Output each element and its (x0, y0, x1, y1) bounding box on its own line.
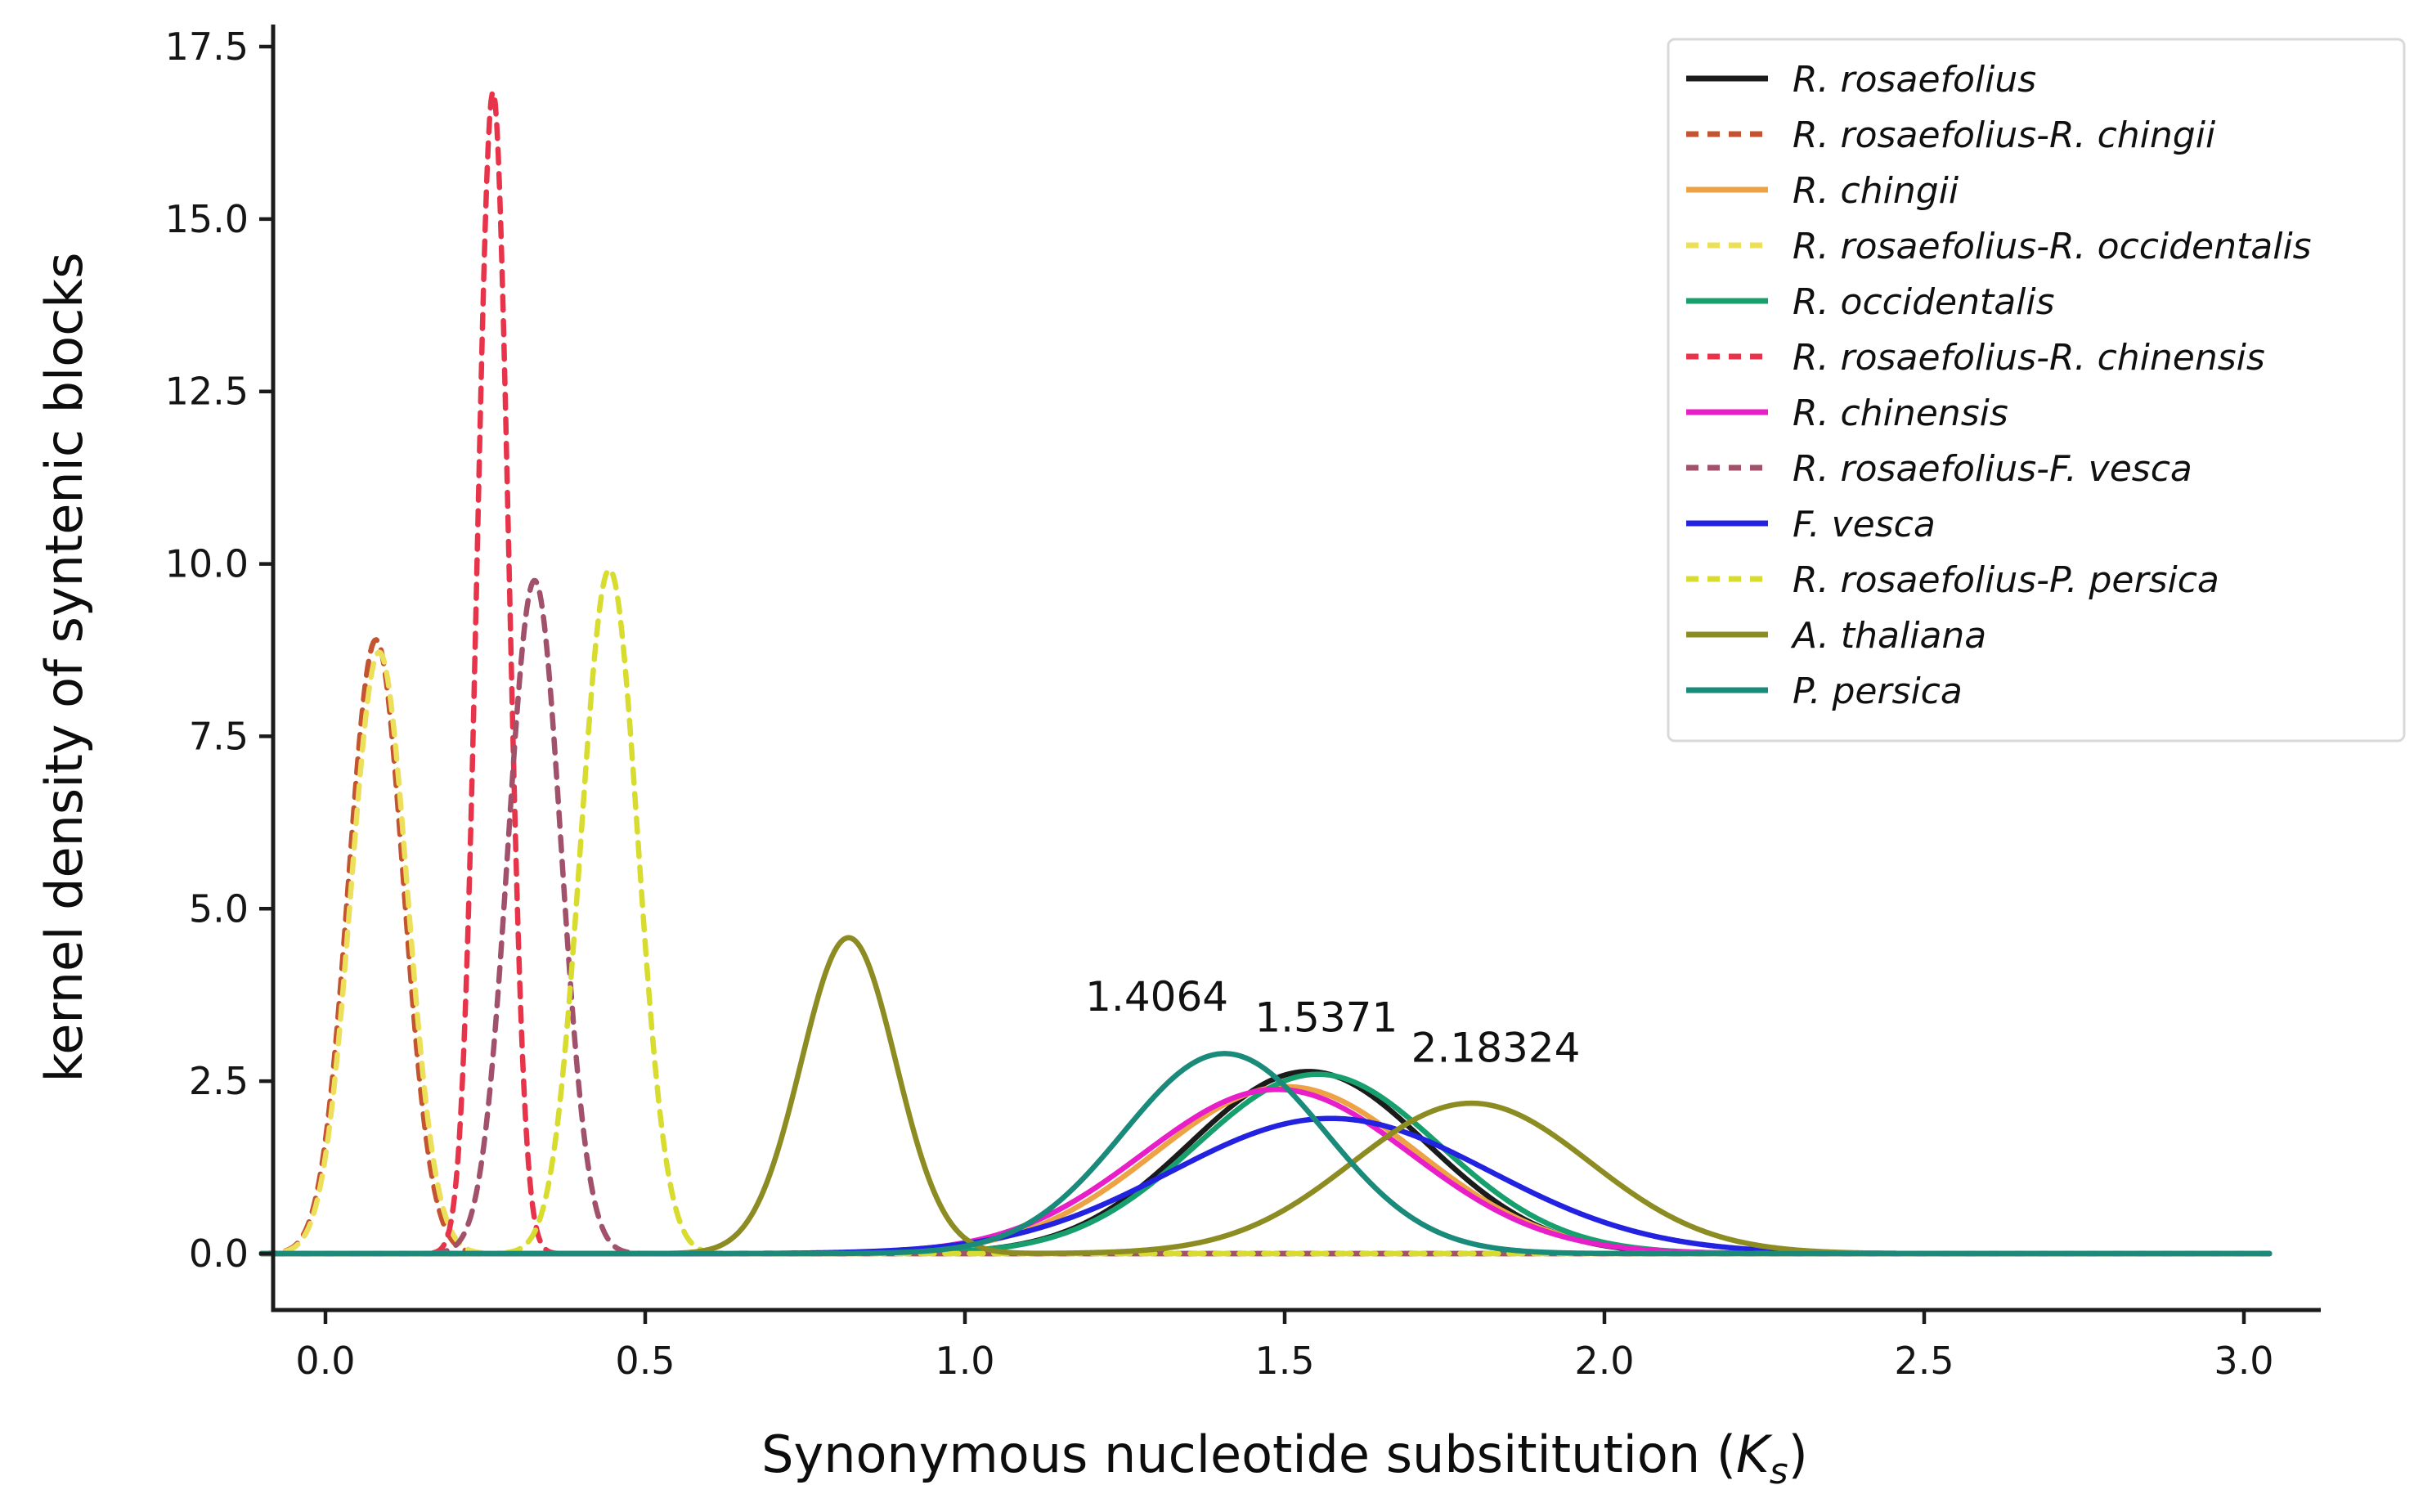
x-axis-title: Synonymous nucleotide subsititution (Ks) (761, 1425, 1808, 1492)
annotations-group: 1.40641.53712.18324 (1085, 973, 1580, 1071)
kde-curve-8 (262, 1119, 2269, 1254)
peak-annotation-0: 1.4064 (1085, 973, 1228, 1021)
y-tick-label-4: 10.0 (165, 542, 249, 586)
kde-curve-2 (262, 1087, 2269, 1254)
y-axis-title: kernel density of syntenic blocks (34, 253, 94, 1083)
x-tick-label-6: 3.0 (2214, 1339, 2273, 1383)
x-tick-label-4: 2.0 (1574, 1339, 1634, 1383)
peak-annotation-2: 2.18324 (1411, 1025, 1581, 1072)
y-tick-label-7: 17.5 (165, 25, 249, 69)
peak-annotation-1: 1.5371 (1254, 994, 1398, 1041)
chart-legend[interactable]: R. rosaefoliusR. rosaefolius-R. chingiiR… (1668, 39, 2404, 741)
kde-curve-3 (262, 653, 2269, 1254)
legend-label-2[interactable]: R. chingii (1793, 170, 1959, 212)
x-tick-label-0: 0.0 (295, 1339, 355, 1383)
legend-label-11[interactable]: P. persica (1793, 671, 1963, 712)
legend-label-4[interactable]: R. occidentalis (1793, 281, 2055, 323)
y-tick-label-3: 7.5 (189, 714, 249, 758)
legend-label-0[interactable]: R. rosaefolius (1793, 59, 2036, 101)
legend-label-10[interactable]: A. thaliana (1790, 615, 1986, 657)
legend-label-8[interactable]: F. vesca (1793, 504, 1936, 545)
x-tick-label-2: 1.0 (935, 1339, 994, 1383)
y-tick-label-6: 15.0 (165, 197, 249, 241)
y-tick-label-2: 5.0 (189, 886, 249, 931)
kde-curve-4 (262, 1075, 2269, 1254)
y-tick-label-0: 0.0 (189, 1232, 249, 1276)
y-tick-label-1: 2.5 (189, 1059, 249, 1103)
y-tick-label-5: 12.5 (165, 370, 249, 414)
x-tick-label-1: 0.5 (615, 1339, 675, 1383)
kde-figure: 0.00.51.01.52.02.53.00.02.55.07.510.012.… (0, 0, 2432, 1512)
axis-titles-group: Synonymous nucleotide subsititution (Ks)… (34, 253, 1808, 1492)
legend-label-7[interactable]: R. rosaefolius-F. vesca (1793, 448, 2192, 490)
legend-label-5[interactable]: R. rosaefolius-R. chinensis (1793, 337, 2265, 379)
legend-label-1[interactable]: R. rosaefolius-R. chingii (1793, 114, 2216, 156)
x-tick-label-5: 2.5 (1894, 1339, 1954, 1383)
x-tick-label-3: 1.5 (1254, 1339, 1314, 1383)
kde-plot-svg: 0.00.51.01.52.02.53.00.02.55.07.510.012.… (0, 0, 2432, 1512)
kde-curve-6 (262, 1089, 2269, 1254)
legend-label-9[interactable]: R. rosaefolius-P. persica (1793, 559, 2219, 601)
legend-label-3[interactable]: R. rosaefolius-R. occidentalis (1793, 226, 2312, 267)
legend-label-6[interactable]: R. chinensis (1793, 393, 2008, 434)
